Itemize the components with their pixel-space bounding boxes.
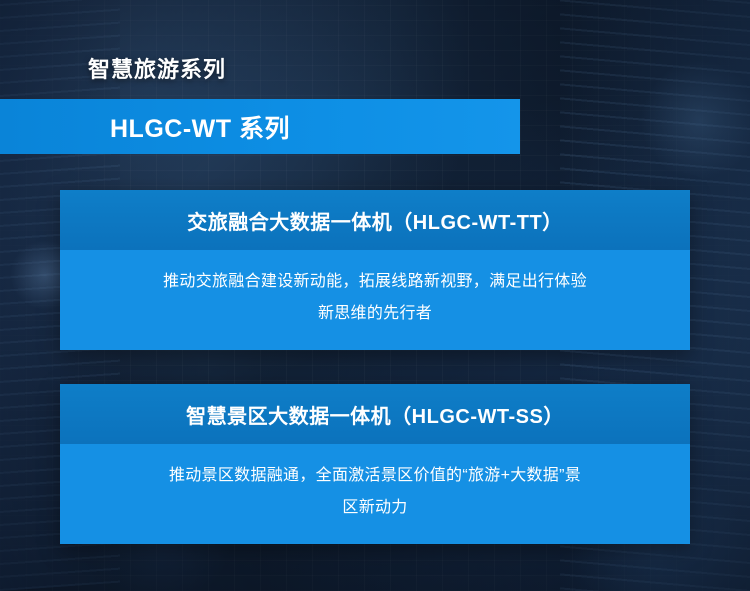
series-title: HLGC-WT 系列: [110, 109, 290, 145]
poster-content: 智慧旅游系列 HLGC-WT 系列 交旅融合大数据一体机（HLGC-WT-TT）…: [0, 0, 750, 591]
product-card-ss-title: 智慧景区大数据一体机（HLGC-WT-SS）: [60, 384, 690, 444]
description-line: 新思维的先行者: [88, 298, 662, 330]
product-card-tt-description: 推动交旅融合建设新动能，拓展线路新视野，满足出行体验 新思维的先行者: [60, 250, 690, 350]
product-card-ss[interactable]: 智慧景区大数据一体机（HLGC-WT-SS） 推动景区数据融通，全面激活景区价值…: [60, 384, 690, 544]
description-line: 区新动力: [88, 492, 662, 524]
product-card-ss-description: 推动景区数据融通，全面激活景区价值的“旅游+大数据”景 区新动力: [60, 444, 690, 544]
product-poster: 智慧旅游系列 HLGC-WT 系列 交旅融合大数据一体机（HLGC-WT-TT）…: [0, 0, 750, 591]
series-title-bar: HLGC-WT 系列: [0, 99, 520, 154]
product-card-tt-title: 交旅融合大数据一体机（HLGC-WT-TT）: [60, 190, 690, 250]
series-kicker: 智慧旅游系列: [88, 52, 226, 84]
description-line: 推动景区数据融通，全面激活景区价值的“旅游+大数据”景: [88, 460, 662, 492]
product-card-tt[interactable]: 交旅融合大数据一体机（HLGC-WT-TT） 推动交旅融合建设新动能，拓展线路新…: [60, 190, 690, 350]
description-line: 推动交旅融合建设新动能，拓展线路新视野，满足出行体验: [88, 266, 662, 298]
